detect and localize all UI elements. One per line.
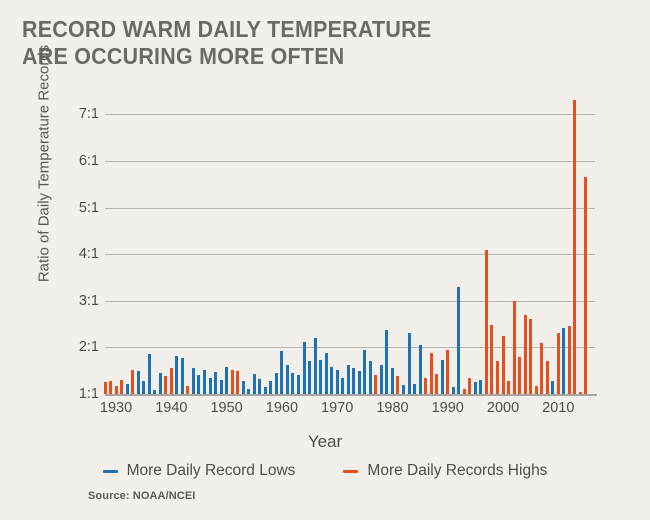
bar (148, 354, 151, 394)
bar (430, 353, 433, 394)
y-tick-label: 6:1 (67, 153, 99, 169)
bar (330, 367, 333, 394)
bar (164, 376, 167, 394)
bar (303, 342, 306, 394)
x-tick-label: 2000 (487, 400, 519, 416)
bar (236, 371, 239, 394)
legend-label-lows: More Daily Record Lows (127, 462, 296, 480)
bar (402, 385, 405, 394)
bars-container (105, 100, 597, 394)
bar (192, 368, 195, 394)
bar (584, 177, 587, 394)
bar (529, 319, 532, 394)
y-tick-label: 4:1 (67, 246, 99, 262)
bar (551, 381, 554, 394)
bar (413, 384, 416, 394)
x-tick-label: 1940 (155, 400, 187, 416)
bar (319, 360, 322, 394)
bar (524, 315, 527, 394)
bar (374, 375, 377, 394)
bar (297, 375, 300, 394)
x-tick-label: 1960 (266, 400, 298, 416)
bar (104, 382, 107, 394)
bar (496, 361, 499, 394)
bar (170, 368, 173, 394)
bar (358, 371, 361, 394)
bar (314, 338, 317, 394)
x-axis-label: Year (0, 432, 650, 452)
bar (280, 351, 283, 394)
bar (540, 343, 543, 394)
bar (446, 350, 449, 394)
legend-item-lows[interactable]: More Daily Record Lows (103, 462, 296, 480)
bar (231, 370, 234, 394)
y-tick-label: 1:1 (67, 386, 99, 402)
y-tick-label: 7:1 (67, 106, 99, 122)
bar (573, 100, 576, 394)
bar (258, 379, 261, 394)
bar (131, 370, 134, 394)
bar (546, 361, 549, 394)
x-tick-label: 1990 (432, 400, 464, 416)
bar (115, 386, 118, 394)
bar (424, 378, 427, 394)
bar (220, 380, 223, 394)
bar (441, 360, 444, 394)
bar (419, 345, 422, 394)
bar (502, 336, 505, 394)
bar (490, 325, 493, 394)
bar (341, 378, 344, 394)
x-axis-line (105, 394, 597, 396)
bar (474, 382, 477, 394)
bar (507, 381, 510, 394)
bar (286, 365, 289, 394)
bar (485, 250, 488, 394)
bar (214, 372, 217, 394)
bar (275, 373, 278, 394)
bar (264, 387, 267, 394)
bar (142, 381, 145, 394)
x-tick-label: 2010 (542, 400, 574, 416)
bar (225, 367, 228, 394)
bar (396, 376, 399, 394)
bar (325, 353, 328, 394)
bar (269, 381, 272, 394)
x-tick-label: 1930 (100, 400, 132, 416)
bar (109, 381, 112, 394)
bar (308, 361, 311, 394)
bar (579, 392, 582, 394)
y-tick-label: 2:1 (67, 339, 99, 355)
bar (153, 390, 156, 394)
y-tick-label: 5:1 (67, 200, 99, 216)
bar (175, 356, 178, 394)
bar (159, 373, 162, 394)
legend-swatch-highs (343, 470, 358, 473)
bar (408, 333, 411, 394)
x-tick-label: 1970 (321, 400, 353, 416)
y-tick-label: 3:1 (67, 293, 99, 309)
legend-label-highs: More Daily Records Highs (367, 462, 547, 480)
bar (385, 330, 388, 394)
bar (209, 378, 212, 394)
bar (120, 380, 123, 394)
x-tick-label: 1980 (376, 400, 408, 416)
bar (347, 365, 350, 394)
legend-swatch-lows (103, 470, 118, 473)
bar (535, 386, 538, 394)
legend-item-highs[interactable]: More Daily Records Highs (343, 462, 547, 480)
bar (479, 380, 482, 394)
chart-page: RECORD WARM DAILY TEMPERATURE ARE OCCURI… (0, 0, 650, 520)
bar (247, 389, 250, 394)
bar (557, 333, 560, 395)
bar (126, 384, 129, 394)
bar (468, 378, 471, 394)
bar (562, 328, 565, 394)
bar (380, 365, 383, 394)
bar (186, 386, 189, 394)
bar (363, 350, 366, 394)
chart-legend: More Daily Record Lows More Daily Record… (0, 462, 650, 480)
bar (181, 358, 184, 394)
bar (352, 368, 355, 394)
bar (518, 357, 521, 394)
bar (568, 326, 571, 394)
bar (137, 371, 140, 394)
bar (203, 370, 206, 394)
bar (457, 287, 460, 394)
bar (391, 368, 394, 394)
bar (435, 374, 438, 394)
x-tick-label: 1950 (210, 400, 242, 416)
bar (369, 361, 372, 394)
bar (336, 370, 339, 394)
bar (197, 375, 200, 394)
bar (242, 381, 245, 394)
bar (253, 374, 256, 394)
chart-figure: Ratio of Daily Temperature Records 1:12:… (0, 0, 650, 520)
bar (291, 373, 294, 394)
source-note: Source: NOAA/NCEI (88, 490, 195, 502)
bar (452, 387, 455, 394)
y-axis-label: Ratio of Daily Temperature Records (36, 24, 53, 304)
bar (513, 301, 516, 394)
bar (463, 389, 466, 394)
